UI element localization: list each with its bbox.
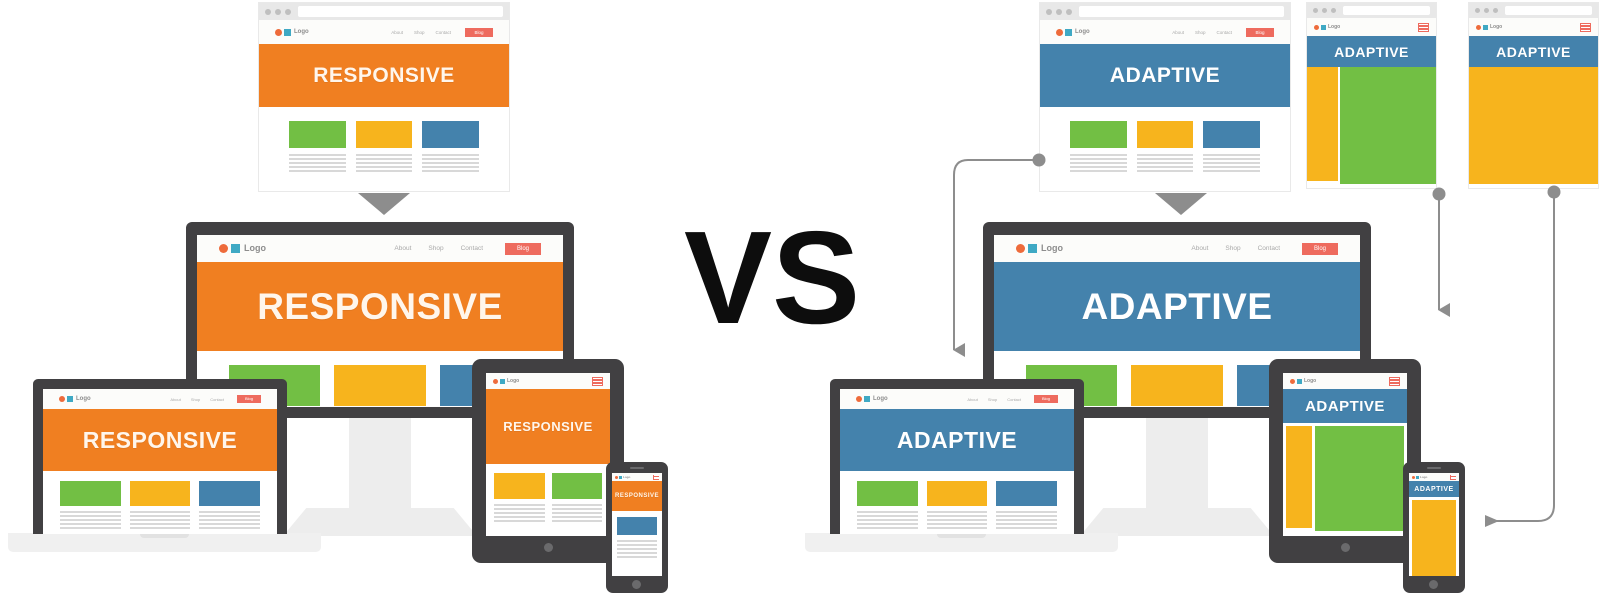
site-logo[interactable]: Logo (1476, 25, 1502, 30)
browser-dot-minimize-icon[interactable] (275, 9, 281, 15)
content-card (289, 121, 346, 172)
site-nav: About Shop Contact Blog (1172, 28, 1274, 37)
browser-title-bar (1040, 3, 1290, 20)
laptop-screen: Logo About Shop Contact Blog RESPONSIVE (43, 389, 277, 534)
card-thumbnail-yellow (1137, 121, 1194, 148)
nav-item-contact[interactable]: Contact (210, 397, 224, 402)
site-logo[interactable]: Logo (59, 396, 91, 402)
site-header: Logo (1307, 18, 1436, 36)
logo-square-icon (1416, 476, 1419, 479)
hamburger-menu-icon[interactable] (592, 377, 603, 386)
hero-label: RESPONSIVE (83, 427, 238, 454)
responsive-browser-window: Logo About Shop Contact Blog RESPONSIVE (259, 3, 509, 191)
site-nav: About Shop Contact Blog (394, 243, 541, 255)
card-thumbnail-green (60, 481, 121, 506)
site-nav: About Shop Contact Blog (1191, 243, 1338, 255)
card-sidebar-yellow (1307, 67, 1338, 181)
content-card (334, 365, 425, 407)
site-logo[interactable]: Logo (275, 29, 309, 36)
content-cards (43, 471, 277, 529)
logo-square-icon (284, 29, 291, 36)
logo-square-icon (864, 396, 870, 402)
monitor-stand-base (283, 508, 477, 536)
card-text-lines (927, 511, 988, 529)
responsive-phone: Logo RESPONSIVE (606, 462, 668, 593)
content-card (422, 121, 479, 172)
monitor-stand-neck (1146, 415, 1208, 520)
card-text-lines (857, 511, 918, 529)
card-text-lines (1070, 154, 1127, 172)
card-text-lines (617, 540, 657, 558)
site-header: Logo About Shop Contact Blog (259, 20, 509, 44)
site-logo[interactable]: Logo (615, 476, 630, 479)
hamburger-menu-icon[interactable] (1418, 23, 1429, 32)
browser-dot-maximize-icon[interactable] (1493, 8, 1498, 13)
nav-item-shop[interactable]: Shop (988, 397, 997, 402)
logo-circle-icon (1056, 29, 1063, 36)
nav-item-shop[interactable]: Shop (1225, 245, 1240, 252)
adaptive-browser-medium: Logo ADAPTIVE (1307, 3, 1436, 188)
browser-address-bar[interactable] (1343, 6, 1430, 15)
phone-home-button[interactable] (632, 580, 641, 589)
content-card (857, 481, 918, 529)
hero-banner: ADAPTIVE (1040, 44, 1290, 107)
responsive-laptop: Logo About Shop Contact Blog RESPONSIVE (33, 379, 287, 534)
hero-label: RESPONSIVE (503, 419, 593, 434)
hero-banner: RESPONSIVE (486, 389, 610, 464)
browser-dot-minimize-icon[interactable] (1322, 8, 1327, 13)
logo-text: Logo (1075, 29, 1090, 35)
hero-label: ADAPTIVE (1334, 44, 1409, 60)
nav-button-blog[interactable]: Blog (465, 28, 493, 37)
site-header: Logo (486, 373, 610, 389)
laptop-screen: Logo About Shop Contact Blog ADAPTIVE (840, 389, 1074, 534)
logo-text: Logo (873, 396, 888, 402)
card-text-lines (1203, 154, 1260, 172)
site-header: Logo About Shop Contact Blog (197, 235, 563, 262)
site-logo[interactable]: Logo (1056, 29, 1090, 36)
card-text-lines (494, 504, 545, 522)
logo-circle-icon (219, 244, 228, 253)
site-logo[interactable]: Logo (1016, 244, 1063, 253)
card-main-yellow (1469, 67, 1598, 184)
site-header: Logo About Shop Contact Blog (840, 389, 1074, 409)
hero-banner: RESPONSIVE (259, 44, 509, 107)
hero-banner: ADAPTIVE (1469, 36, 1598, 67)
logo-text: Logo (244, 244, 266, 253)
content-card (927, 481, 988, 529)
hero-banner: RESPONSIVE (612, 481, 662, 511)
logo-circle-icon (275, 29, 282, 36)
browser-address-bar[interactable] (1505, 6, 1592, 15)
connector-browser-to-phone (1486, 186, 1561, 522)
browser-address-bar[interactable] (298, 6, 503, 16)
nav-button-blog[interactable]: Blog (505, 243, 541, 255)
card-thumbnail-green (1070, 121, 1127, 148)
hero-label: ADAPTIVE (1496, 44, 1571, 60)
infographic-canvas: Logo About Shop Contact Blog RESPONSIVE (0, 0, 1600, 607)
hero-label: ADAPTIVE (1081, 286, 1272, 328)
content-card (552, 473, 603, 522)
content-card (60, 481, 121, 529)
logo-circle-icon (856, 396, 862, 402)
content-cards (1283, 423, 1407, 531)
browser-dot-minimize-icon[interactable] (1484, 8, 1489, 13)
browser-dot-close-icon[interactable] (1046, 9, 1052, 15)
content-card (1203, 121, 1260, 172)
content-card (494, 473, 545, 522)
nav-item-contact[interactable]: Contact (461, 245, 483, 252)
card-text-lines (60, 511, 121, 529)
site-logo[interactable]: Logo (1314, 25, 1340, 30)
nav-item-contact[interactable]: Contact (1007, 397, 1021, 402)
content-cards (259, 107, 509, 172)
card-text-lines (1137, 154, 1194, 172)
hero-label: ADAPTIVE (1110, 64, 1220, 88)
hero-label: RESPONSIVE (615, 493, 659, 499)
hero-banner: RESPONSIVE (197, 262, 563, 351)
card-thumbnail-blue (199, 481, 260, 506)
logo-square-icon (619, 476, 622, 479)
adaptive-browser-narrow: Logo ADAPTIVE (1469, 3, 1598, 188)
logo-square-icon (67, 396, 73, 402)
logo-circle-icon (1412, 476, 1415, 479)
site-nav: About Shop Contact Blog (967, 395, 1058, 403)
connector-origin-dot (1433, 188, 1446, 201)
site-logo[interactable]: Logo (493, 379, 519, 384)
logo-circle-icon (59, 396, 65, 402)
logo-text: Logo (1420, 476, 1427, 479)
card-thumbnail-yellow (356, 121, 413, 148)
site-header: Logo (1409, 473, 1459, 481)
card-thumbnail-yellow (1131, 365, 1222, 406)
card-text-lines (199, 511, 260, 529)
nav-button-blog[interactable]: Blog (1246, 28, 1274, 37)
nav-item-about[interactable]: About (170, 397, 180, 402)
logo-square-icon (1483, 25, 1488, 30)
nav-button-blog[interactable]: Blog (1034, 395, 1058, 403)
card-thumbnail-yellow (927, 481, 988, 506)
site-logo[interactable]: Logo (219, 244, 266, 253)
card-thumbnail-blue (1203, 121, 1260, 148)
hero-label: ADAPTIVE (1414, 486, 1453, 493)
card-thumbnail-blue (422, 121, 479, 148)
card-thumbnail-green (552, 473, 603, 499)
browser-address-bar[interactable] (1079, 6, 1284, 16)
nav-item-about[interactable]: About (391, 30, 403, 35)
browser-title-bar (259, 3, 509, 20)
content-card (1131, 365, 1222, 407)
browser-title-bar (1469, 3, 1598, 18)
phone-home-button[interactable] (1429, 580, 1438, 589)
phone-speaker (1427, 467, 1441, 469)
logo-square-icon (1297, 379, 1302, 384)
logo-text: Logo (76, 396, 91, 402)
site-nav: About Shop Contact Blog (170, 395, 261, 403)
site-nav: About Shop Contact Blog (391, 28, 493, 37)
site-logo[interactable]: Logo (1290, 379, 1316, 384)
site-header: Logo (612, 473, 662, 481)
card-thumbnail-green (289, 121, 346, 148)
content-card (996, 481, 1057, 529)
phone-screen: Logo ADAPTIVE (1409, 473, 1459, 576)
logo-square-icon (1028, 244, 1037, 253)
card-text-lines (552, 504, 603, 522)
hamburger-menu-icon[interactable] (653, 475, 659, 480)
logo-text: Logo (294, 29, 309, 35)
card-thumbnail-yellow (494, 473, 545, 499)
adaptive-laptop: Logo About Shop Contact Blog ADAPTIVE (830, 379, 1084, 534)
card-main-green (1315, 426, 1404, 531)
card-text-lines (356, 154, 413, 172)
hero-label: RESPONSIVE (257, 286, 503, 328)
browser-dot-close-icon[interactable] (265, 9, 271, 15)
card-main-green (1340, 67, 1436, 184)
logo-circle-icon (1314, 25, 1319, 30)
adaptive-tablet: Logo ADAPTIVE (1269, 359, 1421, 563)
logo-text: Logo (1041, 244, 1063, 253)
logo-text: Logo (1490, 25, 1502, 30)
logo-circle-icon (1016, 244, 1025, 253)
card-thumbnail-yellow (334, 365, 425, 406)
logo-square-icon (500, 379, 505, 384)
card-sidebar-yellow (1286, 426, 1312, 528)
site-header: Logo (1283, 373, 1407, 389)
hamburger-menu-icon[interactable] (1389, 377, 1400, 386)
hamburger-menu-icon[interactable] (1580, 23, 1591, 32)
site-header: Logo About Shop Contact Blog (994, 235, 1360, 262)
responsive-tablet: Logo RESPONSIVE (472, 359, 624, 563)
logo-circle-icon (1476, 25, 1481, 30)
nav-item-shop[interactable]: Shop (191, 397, 200, 402)
site-logo[interactable]: Logo (1412, 476, 1427, 479)
logo-text: Logo (1328, 25, 1340, 30)
nav-item-shop[interactable]: Shop (1195, 30, 1206, 35)
adaptive-browser-wide: Logo About Shop Contact Blog ADAPTIVE (1040, 3, 1290, 191)
card-thumbnail-blue (617, 517, 657, 535)
hero-banner: ADAPTIVE (1307, 36, 1436, 67)
nav-item-shop[interactable]: Shop (414, 30, 425, 35)
hero-banner: RESPONSIVE (43, 409, 277, 471)
tablet-screen: Logo ADAPTIVE (1283, 373, 1407, 536)
monitor-stand-neck (349, 415, 411, 520)
nav-item-about[interactable]: About (394, 245, 411, 252)
site-header: Logo About Shop Contact Blog (1040, 20, 1290, 44)
browser-dot-maximize-icon[interactable] (285, 9, 291, 15)
adaptive-flow-arrow-icon (1155, 193, 1207, 215)
connector-browser-to-tablet (1433, 188, 1446, 311)
nav-item-contact[interactable]: Contact (1258, 245, 1280, 252)
hero-banner: ADAPTIVE (1409, 481, 1459, 497)
content-card (356, 121, 413, 172)
content-cards (486, 464, 610, 522)
nav-button-blog[interactable]: Blog (237, 395, 261, 403)
browser-title-bar (1307, 3, 1436, 18)
hamburger-menu-icon[interactable] (1450, 475, 1456, 480)
card-text-lines (422, 154, 479, 172)
content-cards (840, 471, 1074, 529)
browser-dot-close-icon[interactable] (1475, 8, 1480, 13)
hero-label: RESPONSIVE (313, 64, 455, 88)
adaptive-phone: Logo ADAPTIVE (1403, 462, 1465, 593)
nav-item-about[interactable]: About (1191, 245, 1208, 252)
logo-text: Logo (507, 379, 519, 384)
content-cards (1409, 497, 1459, 576)
content-card (1137, 121, 1194, 172)
logo-square-icon (1065, 29, 1072, 36)
card-text-lines (130, 511, 191, 529)
browser-dot-close-icon[interactable] (1313, 8, 1318, 13)
site-logo[interactable]: Logo (856, 396, 888, 402)
phone-speaker (630, 467, 644, 469)
hero-banner: ADAPTIVE (1283, 389, 1407, 423)
card-text-lines (996, 511, 1057, 529)
browser-dot-maximize-icon[interactable] (1331, 8, 1336, 13)
content-cards (1307, 67, 1436, 188)
nav-item-contact[interactable]: Contact (1216, 30, 1232, 35)
nav-item-shop[interactable]: Shop (428, 245, 443, 252)
hero-label: ADAPTIVE (897, 427, 1017, 454)
hero-banner: ADAPTIVE (994, 262, 1360, 351)
nav-item-contact[interactable]: Contact (435, 30, 451, 35)
logo-circle-icon (615, 476, 618, 479)
browser-dot-minimize-icon[interactable] (1056, 9, 1062, 15)
browser-dot-maximize-icon[interactable] (1066, 9, 1072, 15)
card-text-lines (289, 154, 346, 172)
logo-square-icon (1321, 25, 1326, 30)
nav-button-blog[interactable]: Blog (1302, 243, 1338, 255)
content-card (199, 481, 260, 529)
site-header: Logo About Shop Contact Blog (43, 389, 277, 409)
logo-circle-icon (1290, 379, 1295, 384)
logo-circle-icon (493, 379, 498, 384)
content-cards (612, 511, 662, 558)
hero-label: ADAPTIVE (1305, 398, 1385, 415)
card-thumbnail-blue (996, 481, 1057, 506)
card-main-yellow (1412, 500, 1456, 576)
phone-screen: Logo RESPONSIVE (612, 473, 662, 576)
content-cards (1469, 67, 1598, 184)
monitor-stand-base (1080, 508, 1274, 536)
site-header: Logo (1469, 18, 1598, 36)
nav-item-about[interactable]: About (967, 397, 977, 402)
hero-banner: ADAPTIVE (840, 409, 1074, 471)
responsive-flow-arrow-icon (358, 193, 410, 215)
tablet-home-button[interactable] (1341, 543, 1350, 552)
card-thumbnail-green (857, 481, 918, 506)
logo-text: Logo (623, 476, 630, 479)
card-thumbnail-yellow (130, 481, 191, 506)
nav-item-about[interactable]: About (1172, 30, 1184, 35)
logo-text: Logo (1304, 379, 1316, 384)
versus-label: VS (684, 212, 859, 344)
content-cards (1040, 107, 1290, 172)
content-card (1070, 121, 1127, 172)
tablet-home-button[interactable] (544, 543, 553, 552)
content-card (130, 481, 191, 529)
logo-square-icon (231, 244, 240, 253)
tablet-screen: Logo RESPONSIVE (486, 373, 610, 536)
